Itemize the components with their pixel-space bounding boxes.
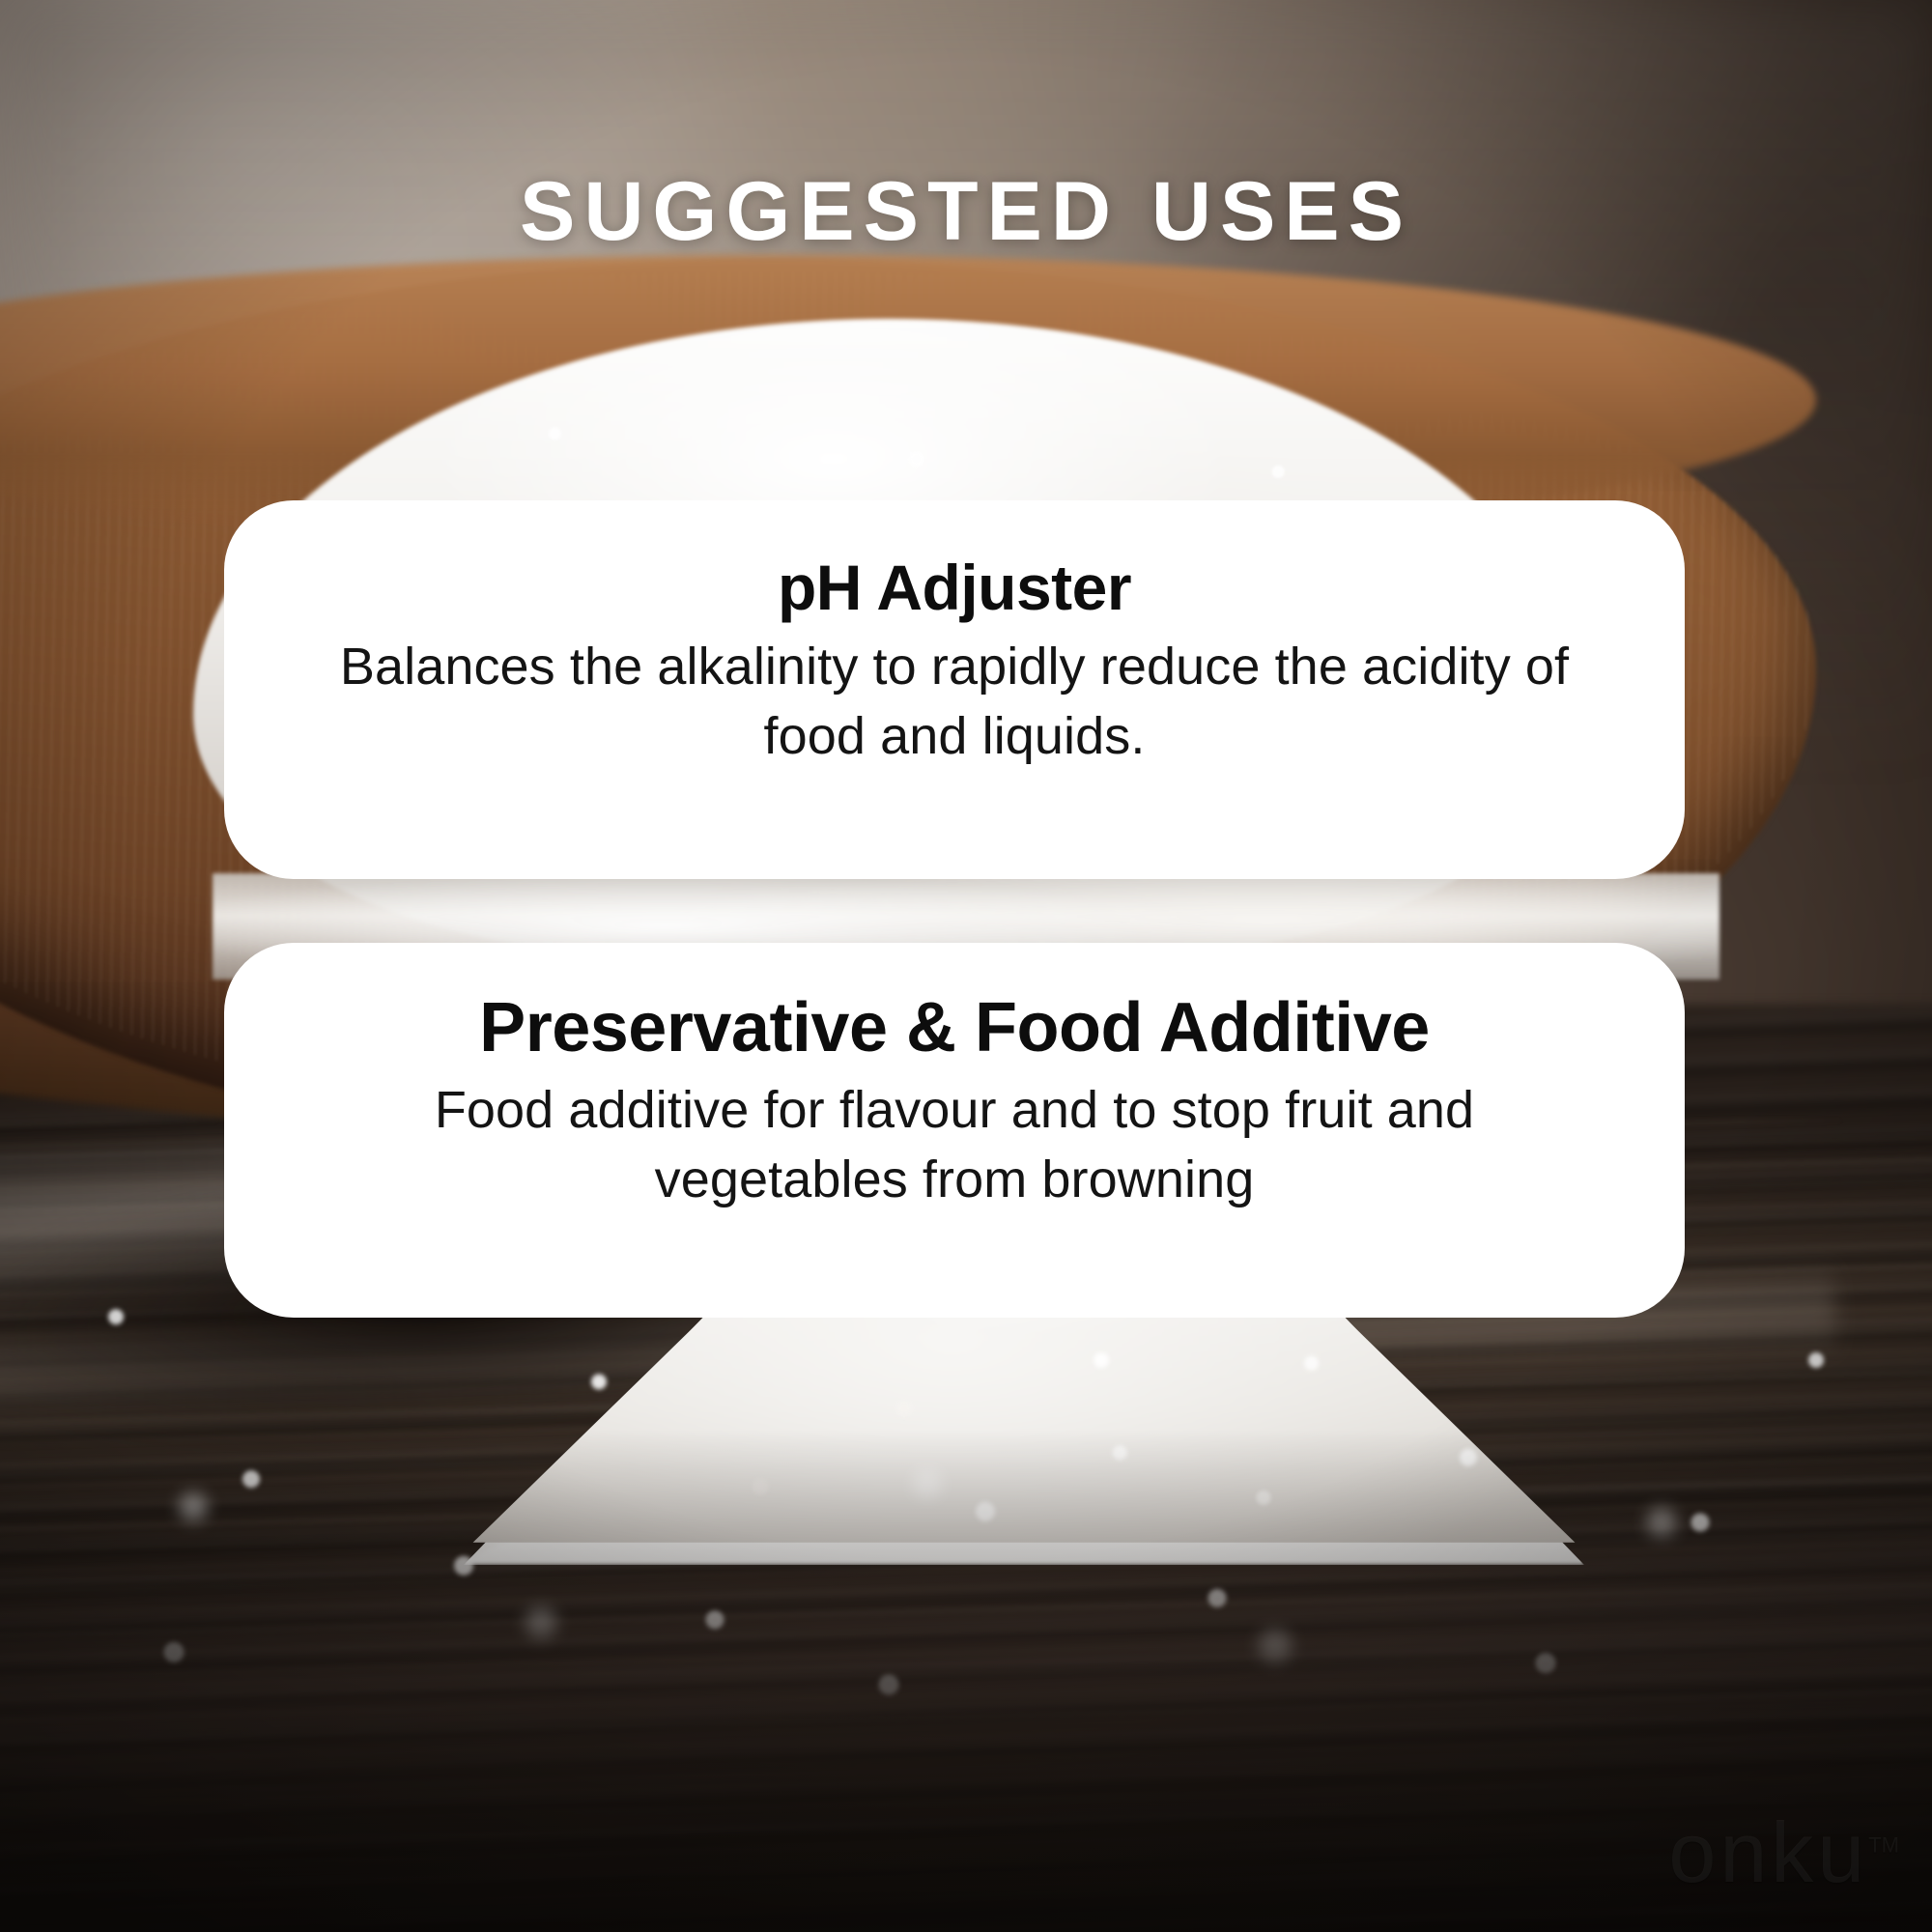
trademark-symbol: TM (1868, 1833, 1899, 1858)
brand-watermark-text: onku (1668, 1804, 1868, 1900)
suggested-uses-graphic: SUGGESTED USES pH Adjuster Balances the … (0, 0, 1932, 1932)
use-card-title: Preservative & Food Additive (278, 989, 1631, 1067)
page-title: SUGGESTED USES (0, 170, 1932, 253)
content-layer: SUGGESTED USES pH Adjuster Balances the … (0, 0, 1932, 1932)
use-card-body: Balances the alkalinity to rapidly reduc… (331, 632, 1577, 772)
use-card-ph-adjuster: pH Adjuster Balances the alkalinity to r… (224, 500, 1685, 879)
use-card-title: pH Adjuster (278, 553, 1631, 624)
use-card-preservative-food-additive: Preservative & Food Additive Food additi… (224, 943, 1685, 1318)
use-card-body: Food additive for flavour and to stop fr… (331, 1075, 1577, 1215)
brand-watermark: onkuTM (1668, 1810, 1899, 1895)
